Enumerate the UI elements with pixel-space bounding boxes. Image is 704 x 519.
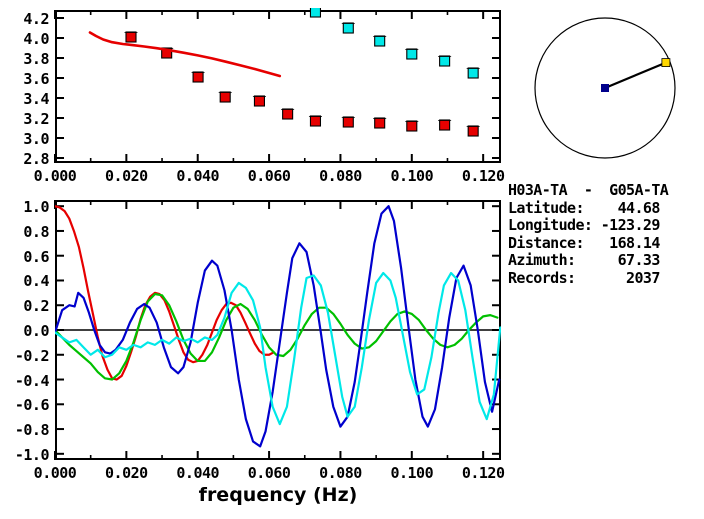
- station-pair-label: H03A-TA - G05A-TA: [508, 182, 704, 200]
- x-tick-label: 0.120: [453, 464, 513, 482]
- x-tick-label: 0.000: [25, 167, 85, 185]
- y-tick-label: 0.2: [3, 297, 49, 315]
- azimuth-station-dot: [662, 59, 670, 67]
- info-row-longitude: Longitude: -123.29: [508, 217, 704, 235]
- x-tick-label: 0.100: [382, 464, 442, 482]
- y-tick-label: 0.8: [3, 223, 49, 241]
- x-tick-label: 0.080: [310, 167, 370, 185]
- info-row-azimuth: Azimuth: 67.33: [508, 252, 704, 270]
- x-tick-label: 0.080: [310, 464, 370, 482]
- x-tick-label: 0.040: [168, 167, 228, 185]
- azimuth-diagram-svg: [510, 2, 700, 174]
- x-tick-label: 0.020: [96, 464, 156, 482]
- y-tick-label: 3.0: [3, 130, 49, 148]
- x-axis-title: frequency (Hz): [178, 484, 378, 506]
- plot-page: 2.83.03.23.43.63.84.04.2 0.0000.0200.040…: [0, 0, 704, 519]
- info-row-distance: Distance: 168.14: [508, 235, 704, 253]
- x-tick-label: 0.060: [239, 167, 299, 185]
- y-tick-label: 3.8: [3, 50, 49, 68]
- azimuth-diagram: [510, 2, 700, 174]
- x-tick-label: 0.040: [168, 464, 228, 482]
- x-tick-label: 0.000: [25, 464, 85, 482]
- azimuth-center-dot: [601, 84, 609, 92]
- y-tick-label: 3.6: [3, 70, 49, 88]
- y-tick-label: -0.4: [3, 372, 49, 390]
- y-tick-label: -0.6: [3, 396, 49, 414]
- y-tick-label: 0.4: [3, 272, 49, 290]
- y-tick-label: 3.4: [3, 90, 49, 108]
- station-info-rows: Latitude: 44.68Longitude: -123.29Distanc…: [508, 200, 704, 288]
- y-tick-label: -0.8: [3, 421, 49, 439]
- y-tick-label: -1.0: [3, 446, 49, 464]
- y-tick-label: 4.2: [3, 10, 49, 28]
- dispersion-plot-frame: [55, 10, 501, 163]
- x-tick-label: 0.100: [382, 167, 442, 185]
- info-row-latitude: Latitude: 44.68: [508, 200, 704, 218]
- y-tick-label: 0.6: [3, 248, 49, 266]
- y-tick-label: 3.2: [3, 110, 49, 128]
- y-tick-label: 2.8: [3, 150, 49, 168]
- x-tick-label: 0.020: [96, 167, 156, 185]
- y-tick-label: 0.0: [3, 322, 49, 340]
- y-tick-label: 1.0: [3, 198, 49, 216]
- y-tick-label: -0.2: [3, 347, 49, 365]
- station-info-panel: H03A-TA - G05A-TA Latitude: 44.68Longitu…: [508, 182, 704, 287]
- x-tick-label: 0.060: [239, 464, 299, 482]
- spectra-plot-frame: [55, 200, 501, 460]
- info-row-records: Records: 2037: [508, 270, 704, 288]
- y-tick-label: 4.0: [3, 30, 49, 48]
- x-tick-label: 0.120: [453, 167, 513, 185]
